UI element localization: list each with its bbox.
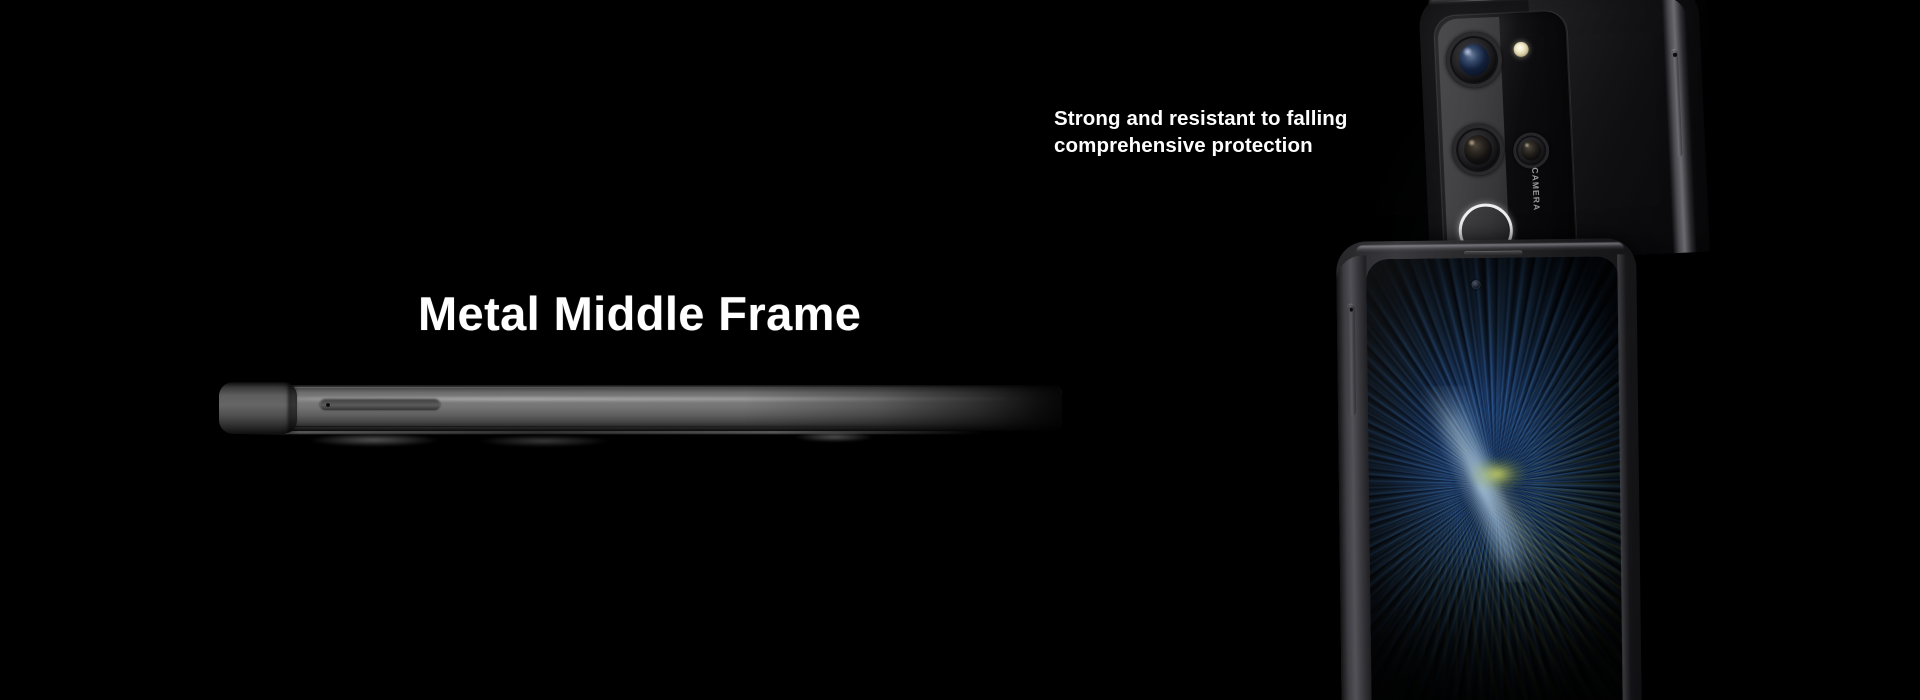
phone-screen [1366,256,1624,700]
feature-caption: Strong and resistant to falling comprehe… [1054,105,1348,159]
page-title: Metal Middle Frame [418,286,861,341]
side-profile-end-cap [219,382,297,434]
feature-caption-line-2: comprehensive protection [1054,132,1348,159]
sim-eject-hole-icon [1349,308,1353,312]
secondary-camera-lens-glass [1463,134,1492,165]
side-profile-end-cap-shadow [288,383,298,433]
sim-eject-hole-icon [1673,53,1677,57]
phone-rear-view: CAMERA [1418,0,1710,264]
side-profile-top-seam [294,387,994,388]
sim-tray-slot-icon [1347,304,1356,416]
sim-tray-slot-icon [320,399,440,410]
front-camera-icon [1471,280,1480,289]
phone-side-profile [222,385,1062,455]
screen-glass-reflection [1366,256,1624,700]
sim-eject-hole-icon [326,403,330,407]
earpiece-speaker-icon [1464,251,1522,256]
phone-front-view [1336,238,1642,700]
camera-branding-text: CAMERA [1530,167,1542,211]
side-profile-bottom-seam [294,426,984,427]
feature-caption-line-1: Strong and resistant to falling [1054,105,1348,132]
product-banner: Metal Middle Frame Strong and resistant … [0,0,1920,700]
